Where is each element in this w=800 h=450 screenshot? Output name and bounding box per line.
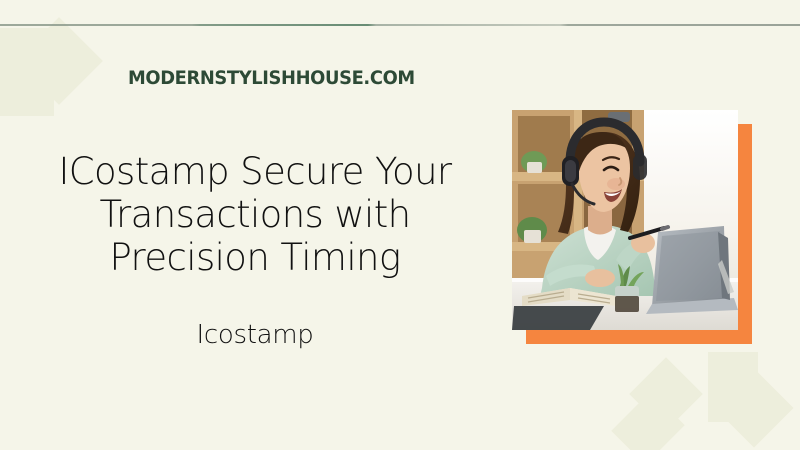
arrow-watermark-top-left-stem [0,28,54,116]
arrow-watermark-bottom-right-2-head [629,357,703,431]
page-title: ICostamp Secure Your Transactions with P… [30,150,480,279]
hero-photo-illustration [512,110,738,330]
brand-website-url: MODERNSTYLISHHOUSE.COM [128,67,415,89]
photo-container [512,110,738,330]
hero-photo [512,110,738,330]
arrow-watermark-bottom-right-1-stem [708,352,758,422]
top-divider-line [0,24,800,26]
text-block: ICostamp Secure Your Transactions with P… [30,150,480,350]
headline-line-1: ICostamp Secure Your [58,150,451,193]
subtitle: Icostamp [30,279,480,350]
arrow-watermark-bottom-right-1-head [714,368,793,447]
arrow-watermark-top-left-head [15,17,103,105]
slide-canvas: MODERNSTYLISHHOUSE.COM ICostamp Secure Y… [0,0,800,450]
headline-line-2: Transactions with [99,193,410,236]
arrow-watermark-bottom-right-2-stem [611,391,685,450]
headline-line-3: Precision Timing [110,236,401,279]
